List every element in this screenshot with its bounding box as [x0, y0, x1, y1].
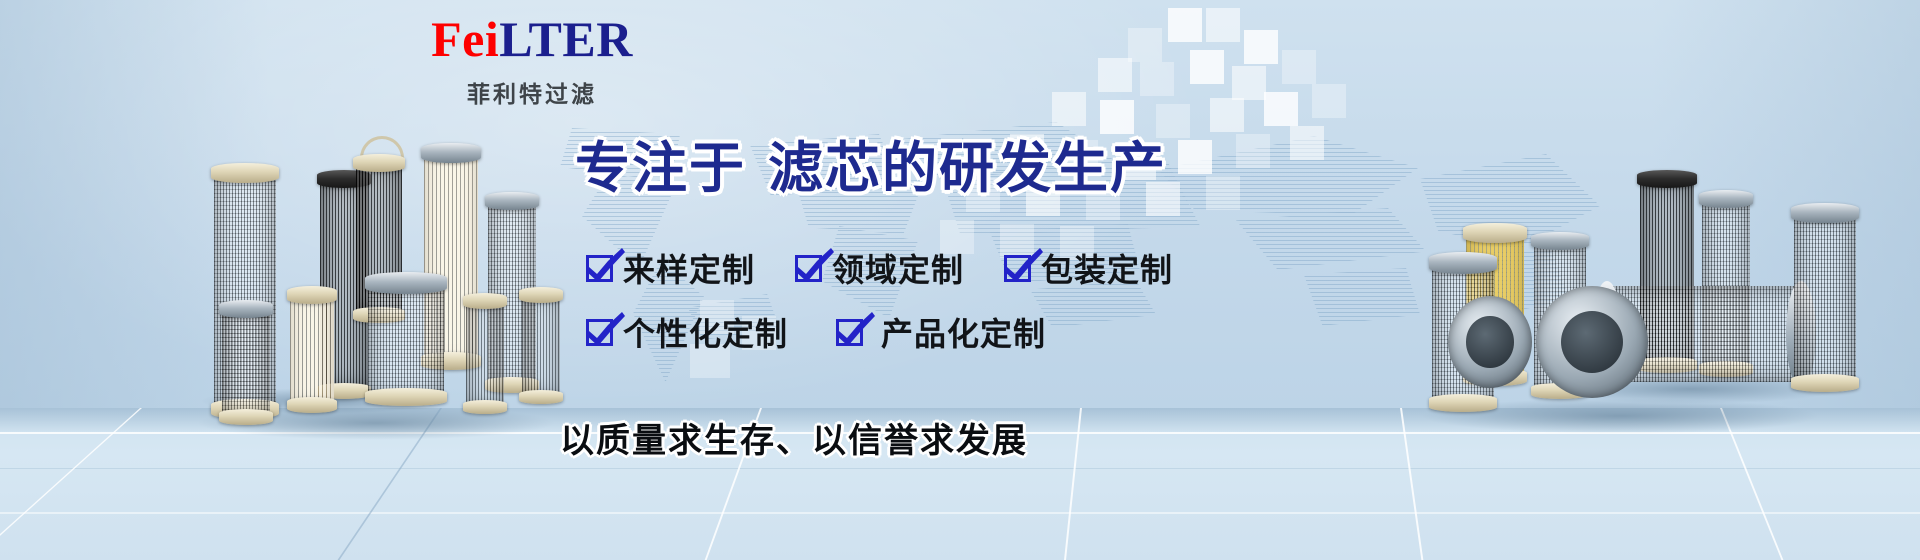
headline-part-1: 专注于	[575, 136, 746, 200]
checkbox-checked-icon	[586, 319, 613, 346]
checkbox-checked-icon	[836, 319, 863, 346]
feature-item-custom-sample[interactable]: 来样定制	[586, 245, 755, 291]
checkbox-checked-icon	[795, 255, 822, 282]
bottom-tagline: 以质量求生存、以信誉求发展	[560, 413, 1028, 462]
filter-end-cap	[1536, 286, 1648, 398]
feature-label: 个性化定制	[623, 309, 788, 355]
filter-cartridge	[222, 308, 270, 418]
filter-cartridge	[1794, 212, 1856, 384]
feature-item-packaging-custom[interactable]: 包装定制	[1004, 245, 1173, 291]
feature-item-productized-custom[interactable]: 产品化定制	[836, 309, 1046, 355]
feature-label: 包装定制	[1041, 245, 1173, 291]
filter-cartridge	[290, 294, 334, 406]
checkbox-checked-icon	[586, 255, 613, 282]
feature-item-field-custom[interactable]: 领域定制	[795, 245, 964, 291]
promo-banner: FeiLTER 菲利特过滤 专注于滤芯的研发生产 来样定制 领域定制	[0, 0, 1920, 560]
brand-chinese-name: 菲利特过滤	[392, 75, 672, 109]
feature-label: 产品化定制	[881, 309, 1046, 355]
feature-label: 领域定制	[832, 245, 964, 291]
feature-row-1: 来样定制 领域定制 包装定制	[586, 245, 1173, 291]
filter-end-cap	[1448, 296, 1532, 388]
feature-item-personalized-custom[interactable]: 个性化定制	[586, 309, 788, 355]
filter-cartridge	[522, 294, 560, 398]
headline-part-2: 滤芯的研发生产	[768, 136, 1167, 200]
brand-logo[interactable]: FeiLTER 菲利特过滤	[392, 14, 672, 109]
brand-wordmark: FeiLTER	[392, 14, 672, 64]
filter-cartridge	[368, 282, 444, 398]
brand-wordmark-part-1: Fei	[431, 11, 499, 67]
brand-wordmark-part-2: LTER	[499, 11, 633, 67]
feature-row-2: 个性化定制 产品化定制	[586, 309, 1046, 355]
checkbox-checked-icon	[1004, 255, 1031, 282]
filter-cartridge	[466, 300, 504, 408]
headline: 专注于滤芯的研发生产	[575, 141, 1167, 196]
feature-label: 来样定制	[623, 245, 755, 291]
